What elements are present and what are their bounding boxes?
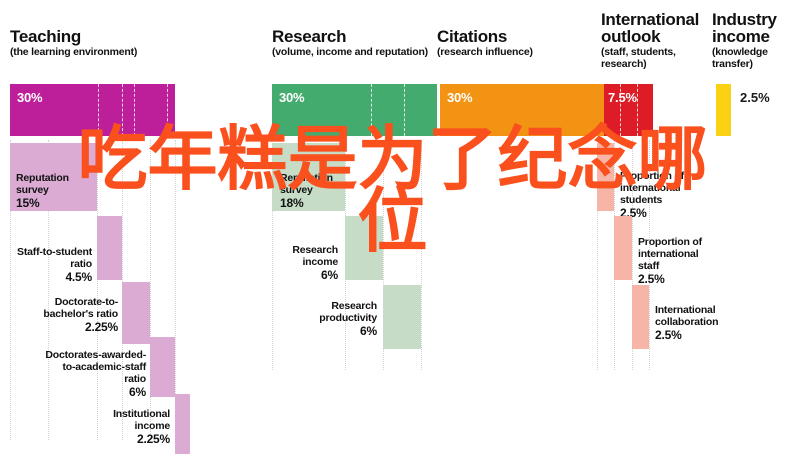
subcomponent-label-teaching-institutional-income: Institutional income 2.25% — [60, 396, 170, 457]
pillar-bar-industry — [716, 84, 731, 136]
pillar-value-citations: 30% — [447, 90, 472, 105]
bar-divider — [404, 84, 406, 136]
pillar-bar-citations: 30% — [440, 84, 605, 136]
subcomponent-label-teaching-reputation-survey: Reputation survey 15% — [16, 160, 96, 221]
column-header-international: International outlook (staff, students, … — [601, 11, 706, 70]
subcomponent-bar-international-students — [597, 143, 614, 211]
subcomponent-bar-international-staff — [614, 216, 632, 280]
pillar-value-international: 7.5% — [608, 90, 637, 105]
subcomponent-label-international-collaboration: International collaboration 2.5% — [655, 292, 765, 353]
column-header-citations: Citations (research influence) — [437, 28, 587, 59]
infographic-canvas: Teaching (the learning environment) Rese… — [0, 0, 785, 459]
subcomponent-label-research-reputation-survey: Reputation survey 18% — [280, 160, 350, 221]
column-title-industry: Industry income — [712, 11, 784, 45]
column-subtitle-research: (volume, income and reputation) — [272, 47, 437, 59]
subcomponent-label-international-staff: Proportion of international staff 2.5% — [638, 224, 738, 297]
column-title-international: International outlook — [601, 11, 706, 45]
bar-divider — [371, 84, 373, 136]
subcomponent-label-research-productivity: Research productivity 6% — [292, 288, 377, 349]
pillar-bar-international: 7.5% — [604, 84, 653, 136]
column-title-citations: Citations — [437, 28, 587, 45]
pillar-bar-research: 30% — [272, 84, 437, 136]
subcomponent-bar-teaching-doctorates-awarded-ratio — [150, 337, 175, 397]
subcomponent-bar-research-productivity — [383, 285, 421, 349]
subcomponent-bar-teaching-doctorate-to-bachelor-ratio — [122, 282, 150, 344]
column-header-research: Research (volume, income and reputation) — [272, 28, 437, 59]
subcomponent-bar-international-collaboration — [632, 285, 649, 349]
subcomponent-label-teaching-doctorate-to-bachelor-ratio: Doctorate-to- bachelor's ratio 2.25% — [18, 284, 118, 345]
column-header-teaching: Teaching (the learning environment) — [10, 28, 170, 59]
pillar-value-teaching: 30% — [17, 90, 42, 105]
bar-divider — [98, 84, 100, 136]
bar-divider — [167, 84, 169, 136]
guide-line — [421, 140, 422, 370]
column-title-teaching: Teaching — [10, 28, 170, 45]
column-subtitle-industry: (knowledge transfer) — [712, 47, 784, 70]
pillar-value-industry: 2.5% — [740, 90, 770, 105]
bar-divider — [134, 84, 136, 136]
subcomponent-bar-research-income — [345, 216, 383, 280]
bar-divider — [637, 84, 639, 136]
subcomponent-bar-teaching-institutional-income — [175, 394, 190, 454]
column-subtitle-citations: (research influence) — [437, 47, 587, 59]
column-header-industry: Industry income (knowledge transfer) — [712, 11, 784, 70]
subcomponent-label-international-students: Proportion of international students 2.5… — [620, 158, 716, 231]
pillar-bar-teaching: 30% — [10, 84, 175, 136]
bar-divider — [122, 84, 124, 136]
column-subtitle-international: (staff, students, research) — [601, 47, 706, 70]
column-subtitle-teaching: (the learning environment) — [10, 47, 170, 59]
subcomponent-bar-teaching-staff-to-student-ratio — [97, 216, 122, 280]
column-title-research: Research — [272, 28, 437, 45]
subcomponent-label-research-income: Research income 6% — [262, 232, 338, 293]
pillar-value-research: 30% — [279, 90, 304, 105]
